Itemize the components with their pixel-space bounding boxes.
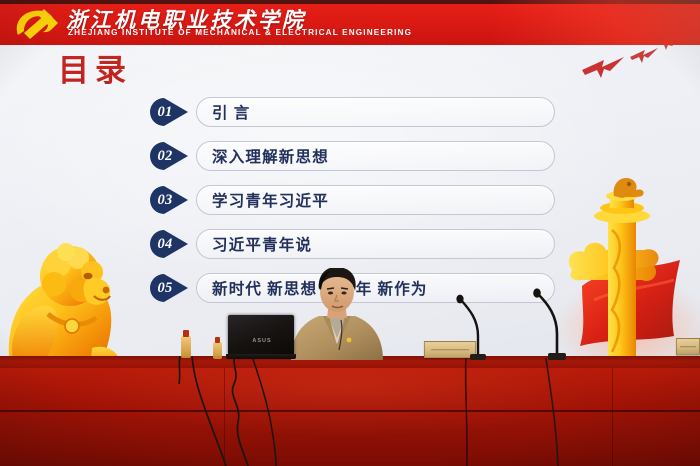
desk-skirt [0, 368, 700, 466]
desk-horizontal-seam [0, 410, 700, 412]
lecture-hall-photo: 目录 01 引 言 02 深入理解新思想 [0, 0, 700, 466]
toc-number-04: 04 [150, 230, 180, 258]
cpc-hammer-sickle-emblem [8, 5, 62, 41]
toc-item-02[interactable]: 02 深入理解新思想 [150, 140, 555, 184]
toc-item-05[interactable]: 05 新时代 新思想 新青年 新作为 [150, 272, 555, 316]
toc-item-04[interactable]: 04 习近平青年说 [150, 228, 555, 272]
toc-label-05: 新时代 新思想 新青年 新作为 [212, 277, 428, 299]
skirt-sheen [0, 368, 700, 466]
contents-list: 01 引 言 02 深入理解新思想 03 学习青年习近平 [150, 96, 555, 316]
toc-label-04: 习近平青年说 [212, 233, 312, 255]
toc-number-03: 03 [150, 186, 180, 214]
school-banner: 浙江机电职业技术学院 ZHEJIANG INSTITUTE OF MECHANI… [0, 0, 700, 45]
school-name-english: ZHEJIANG INSTITUTE OF MECHANICAL & ELECT… [68, 28, 412, 37]
slide-title: 目录 [58, 55, 132, 86]
red-doves-decoration [552, 44, 692, 96]
cable [248, 356, 288, 466]
banner-light-flare [490, 0, 700, 45]
toc-number-01: 01 [150, 98, 180, 126]
toc-item-01[interactable]: 01 引 言 [150, 96, 555, 140]
toc-item-03[interactable]: 03 学习青年习近平 [150, 184, 555, 228]
skirt-seam [224, 368, 225, 466]
toc-label-03: 学习青年习近平 [212, 189, 329, 211]
cable [540, 358, 570, 466]
golden-lion-statue [0, 198, 128, 372]
toc-number-05: 05 [150, 274, 180, 302]
toc-number-02: 02 [150, 142, 180, 170]
projection-screen: 目录 01 引 言 02 深入理解新思想 [0, 0, 700, 372]
toc-label-02: 深入理解新思想 [212, 145, 329, 167]
cable [186, 356, 246, 466]
skirt-seam [612, 368, 613, 466]
cable [458, 358, 478, 466]
toc-label-01: 引 言 [212, 101, 250, 123]
skirt-seam [466, 368, 467, 466]
